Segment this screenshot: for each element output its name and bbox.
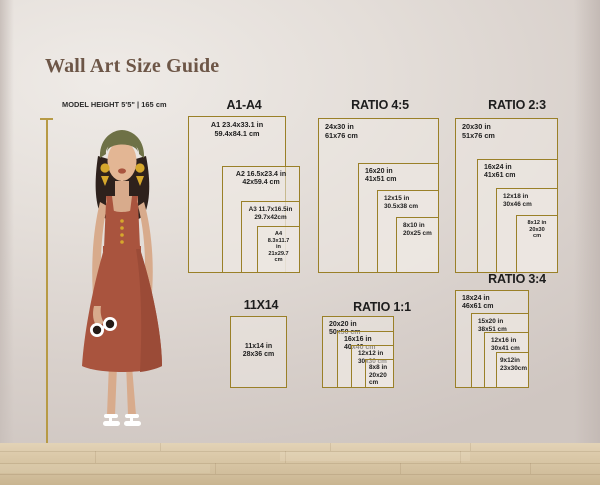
frame-label-8x8: 8x8 in 20x20 cm — [366, 364, 393, 387]
frame-label-8x12: 8x12 in 20x30 cm — [517, 220, 557, 240]
frame-8x10[interactable]: 8x10 in 20x25 cm — [396, 217, 439, 273]
group-a1-a4: A1-A4 A1 23.4x33.1 in 59.4x84.1 cm A2 16… — [188, 98, 300, 273]
model-height-label: MODEL HEIGHT 5'5" | 165 cm — [62, 100, 167, 109]
frame-label-12x15: 12x15 in 30.5x38 cm — [378, 195, 438, 210]
group-ratio-2-3: RATIO 2:3 20x30 in 51x76 cm 16x24 in 41x… — [455, 98, 579, 273]
face — [108, 141, 137, 181]
group-title-ratio-2-3: RATIO 2:3 — [455, 98, 579, 112]
frame-a4[interactable]: A4 8.3x11.7 in 21x29.7 cm — [257, 226, 300, 273]
group-ratio-3-4: RATIO 3:4 18x24 in 46x61 cm 15x20 in 38x… — [455, 272, 579, 388]
frame-label-a1: A1 23.4x33.1 in 59.4x84.1 cm — [189, 121, 285, 138]
frame-label-18x24: 18x24 in 46x61 cm — [456, 295, 528, 312]
height-ruler — [40, 118, 53, 445]
frame-label-24x30: 24x30 in 61x76 cm — [319, 123, 438, 140]
frame-label-8x10: 8x10 in 20x25 cm — [397, 222, 438, 237]
frames-a1-a4: A1 23.4x33.1 in 59.4x84.1 cm A2 16.5x23.… — [188, 116, 300, 273]
frame-label-9x12: 9x12in 23x30cm — [497, 357, 528, 372]
frame-label-a2: A2 16.5x23.4 in 42x59.4 cm — [223, 171, 299, 188]
group-title-ratio-3-4: RATIO 3:4 — [455, 272, 579, 286]
frame-label-11x14: 11x14 in 28x36 cm — [231, 343, 286, 360]
group-title-a1-a4: A1-A4 — [188, 98, 300, 112]
shoe-right — [124, 414, 141, 426]
group-ratio-1-1: RATIO 1:1 20x20 in 50x50 cm 16x16 in 40x… — [322, 300, 442, 388]
frame-label-a4: A4 8.3x11.7 in 21x29.7 cm — [258, 231, 299, 264]
frames-ratio-2-3: 20x30 in 51x76 cm 16x24 in 41x61 cm 12x1… — [455, 118, 579, 273]
floor — [0, 443, 600, 485]
ruler-bar — [46, 118, 48, 445]
frame-8x12[interactable]: 8x12 in 20x30 cm — [516, 215, 558, 273]
frame-11x14[interactable]: 11x14 in 28x36 cm — [230, 316, 287, 388]
group-ratio-4-5: RATIO 4:5 24x30 in 61x76 cm 16x20 in 41x… — [318, 98, 442, 273]
model-illustration — [62, 118, 180, 445]
frame-label-12x16: 12x16 in 30x41 cm — [485, 337, 528, 352]
group-11x14: 11X14 11x14 in 28x36 cm — [222, 298, 300, 388]
group-title-11x14: 11X14 — [222, 298, 300, 312]
frame-label-12x18: 12x18 in 30x46 cm — [497, 193, 557, 208]
lips — [118, 168, 126, 173]
wall-left-shading — [0, 0, 14, 443]
group-title-ratio-1-1: RATIO 1:1 — [322, 300, 442, 314]
shoe-left — [103, 414, 120, 426]
frames-11x14: 11x14 in 28x36 cm — [222, 316, 300, 388]
frame-label-16x24: 16x24 in 41x61 cm — [478, 164, 557, 181]
frame-label-a3: A3 11.7x16.5in 29.7x42cm — [242, 206, 299, 221]
frames-ratio-3-4: 18x24 in 46x61 cm 15x20 in 38x51 cm 12x1… — [455, 290, 579, 388]
page-title: Wall Art Size Guide — [45, 55, 219, 78]
frame-8x8[interactable]: 8x8 in 20x20 cm — [365, 359, 394, 388]
frames-ratio-4-5: 24x30 in 61x76 cm 16x20 in 41x51 cm 12x1… — [318, 118, 442, 273]
frame-label-20x30: 20x30 in 51x76 cm — [456, 123, 557, 140]
frame-label-16x20: 16x20 in 41x51 cm — [359, 168, 438, 185]
frames-ratio-1-1: 20x20 in 50x50 cm 16x16 in 40x40 cm 12x1… — [322, 316, 442, 388]
bodice-top — [112, 212, 132, 218]
frame-label-15x20: 15x20 in 38x51 cm — [472, 318, 528, 333]
group-title-ratio-4-5: RATIO 4:5 — [318, 98, 442, 112]
frame-9x12[interactable]: 9x12in 23x30cm — [496, 352, 529, 388]
